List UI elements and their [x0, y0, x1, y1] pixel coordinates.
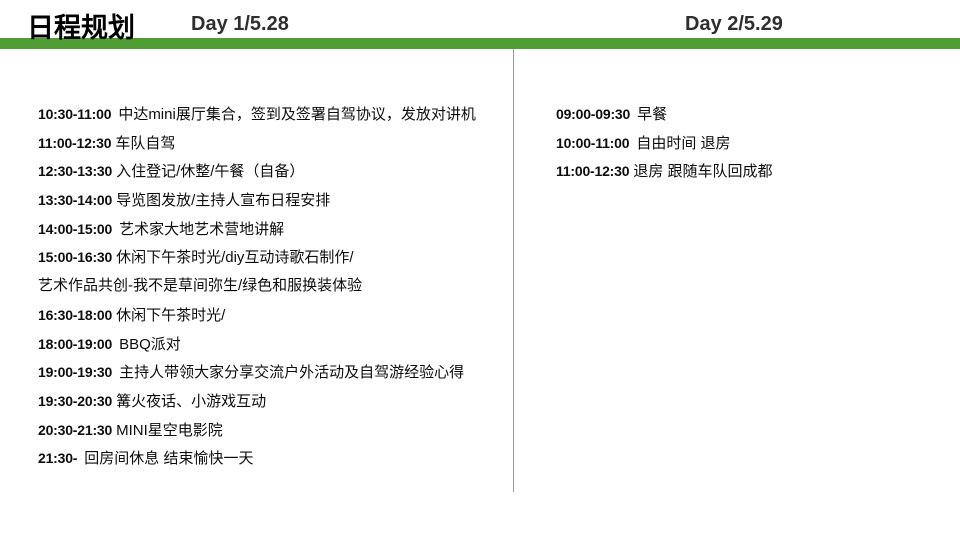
schedule-row: 11:00-12:30退房 跟随车队回成都: [556, 157, 936, 186]
schedule-row: 09:00-09:30早餐: [556, 100, 936, 129]
schedule-description: 退房 跟随车队回成都: [633, 163, 772, 180]
schedule-time: 09:00-09:30: [556, 106, 630, 122]
schedule-time: 11:00-12:30: [556, 163, 629, 179]
schedule-description: 自由时间 退房: [636, 135, 730, 152]
schedule-row: 21:30-回房间休息 结束愉快一天: [38, 444, 518, 473]
day2-schedule-list: 09:00-09:30早餐10:00-11:00自由时间 退房11:00-12:…: [556, 100, 936, 186]
schedule-row: 14:00-15:00艺术家大地艺术营地讲解: [38, 215, 518, 244]
schedule-row: 10:00-11:00自由时间 退房: [556, 129, 936, 158]
schedule-description: 艺术作品共创-我不是草间弥生/绿色和服换装体验: [38, 277, 362, 294]
day2-header-label: Day 2/5.29: [685, 11, 783, 37]
schedule-row: 13:30-14:00导览图发放/主持人宣布日程安排: [38, 186, 518, 215]
schedule-time: 21:30-: [38, 450, 77, 466]
day1-schedule-list: 10:30-11:00中达mini展厅集合，签到及签署自驾协议，发放对讲机11:…: [38, 100, 518, 473]
schedule-row: 19:00-19:30主持人带领大家分享交流户外活动及自驾游经验心得: [38, 358, 518, 387]
schedule-time: 19:30-20:30: [38, 393, 112, 409]
schedule-row: 20:30-21:30MINI星空电影院: [38, 416, 518, 445]
schedule-row: 10:30-11:00中达mini展厅集合，签到及签署自驾协议，发放对讲机: [38, 100, 518, 129]
schedule-description: 休闲下午茶时光/diy互动诗歌石制作/: [116, 249, 354, 266]
schedule-time: 19:00-19:30: [38, 364, 112, 380]
schedule-row: 12:30-13:30入住登记/休整/午餐（自备）: [38, 157, 518, 186]
page-title: 日程规划: [27, 9, 135, 47]
schedule-description: MINI星空电影院: [116, 422, 223, 439]
schedule-time: 13:30-14:00: [38, 192, 112, 208]
schedule-description: 中达mini展厅集合，签到及签署自驾协议，发放对讲机: [118, 106, 476, 123]
schedule-row: 11:00-12:30车队自驾: [38, 129, 518, 158]
header-green-band: [0, 38, 960, 49]
schedule-row: 18:00-19:00BBQ派对: [38, 330, 518, 359]
schedule-description: 入住登记/休整/午餐（自备）: [116, 163, 304, 180]
schedule-time: 14:00-15:00: [38, 221, 112, 237]
schedule-description: 车队自驾: [115, 135, 175, 152]
schedule-description: BBQ派对: [119, 336, 181, 353]
schedule-description: 艺术家大地艺术营地讲解: [119, 221, 284, 238]
schedule-description: 导览图发放/主持人宣布日程安排: [116, 192, 330, 209]
day1-header-label: Day 1/5.28: [191, 11, 289, 37]
schedule-time: 18:00-19:00: [38, 336, 112, 352]
schedule-row: 19:30-20:30篝火夜话、小游戏互动: [38, 387, 518, 416]
schedule-description: 休闲下午茶时光/: [116, 307, 225, 324]
schedule-row: 艺术作品共创-我不是草间弥生/绿色和服换装体验: [38, 272, 518, 301]
schedule-row: 16:30-18:00休闲下午茶时光/: [38, 301, 518, 330]
schedule-time: 10:30-11:00: [38, 106, 111, 122]
schedule-description: 主持人带领大家分享交流户外活动及自驾游经验心得: [119, 364, 464, 381]
schedule-description: 篝火夜话、小游戏互动: [116, 393, 266, 410]
schedule-time: 11:00-12:30: [38, 135, 111, 151]
schedule-description: 回房间休息 结束愉快一天: [84, 450, 253, 467]
schedule-description: 早餐: [637, 106, 667, 123]
schedule-time: 12:30-13:30: [38, 163, 112, 179]
schedule-time: 20:30-21:30: [38, 422, 112, 438]
schedule-row: 15:00-16:30休闲下午茶时光/diy互动诗歌石制作/: [38, 243, 518, 272]
schedule-time: 15:00-16:30: [38, 249, 112, 265]
schedule-time: 16:30-18:00: [38, 307, 112, 323]
schedule-time: 10:00-11:00: [556, 135, 629, 151]
